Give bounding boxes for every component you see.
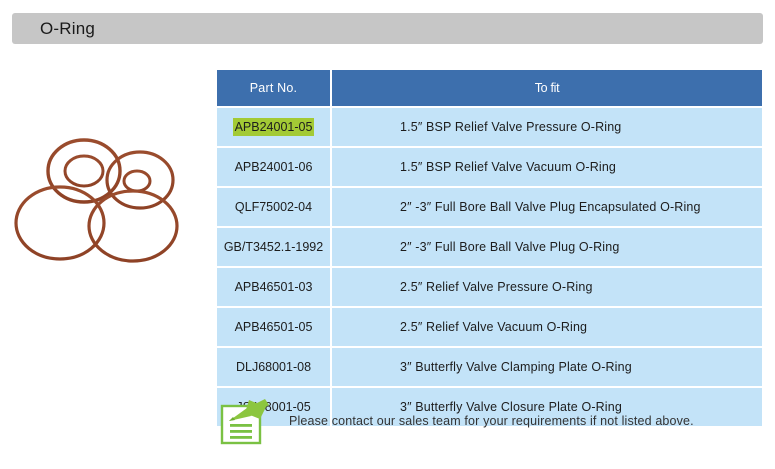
cell-part-no: QLF75002-04 xyxy=(217,188,332,226)
table-row: APB24001-051.5″ BSP Relief Valve Pressur… xyxy=(217,108,762,146)
o-ring-lower-left xyxy=(16,187,104,259)
pen-writing-on-document-icon xyxy=(219,396,275,446)
cell-part-no: DLJ68001-08 xyxy=(217,348,332,386)
cell-part-no: APB24001-05 xyxy=(217,108,332,146)
table-row: APB46501-032.5″ Relief Valve Pressure O-… xyxy=(217,268,762,306)
cell-to-fit: 1.5″ BSP Relief Valve Vacuum O-Ring xyxy=(332,148,762,186)
cell-part-no: APB46501-05 xyxy=(217,308,332,346)
cell-to-fit: 2.5″ Relief Valve Vacuum O-Ring xyxy=(332,308,762,346)
table-row: GB/T3452.1-19922″ -3″ Full Bore Ball Val… xyxy=(217,228,762,266)
table-header: Part No. To fit xyxy=(217,70,762,106)
product-image-o-rings xyxy=(0,128,215,273)
page-title-bar: O-Ring xyxy=(12,13,763,44)
column-header-to-fit-label: To fit xyxy=(535,81,560,95)
table-row: QLF75002-042″ -3″ Full Bore Ball Valve P… xyxy=(217,188,762,226)
table-row: APB24001-061.5″ BSP Relief Valve Vacuum … xyxy=(217,148,762,186)
table-header-row: Part No. To fit xyxy=(217,70,762,106)
cell-to-fit: 2.5″ Relief Valve Pressure O-Ring xyxy=(332,268,762,306)
cell-to-fit: 2″ -3″ Full Bore Ball Valve Plug Encapsu… xyxy=(332,188,762,226)
cell-to-fit: 2″ -3″ Full Bore Ball Valve Plug O-Ring xyxy=(332,228,762,266)
table-body: APB24001-051.5″ BSP Relief Valve Pressur… xyxy=(217,108,762,426)
cell-to-fit: 1.5″ BSP Relief Valve Pressure O-Ring xyxy=(332,108,762,146)
contact-note-text: Please contact our sales team for your r… xyxy=(289,414,694,428)
o-ring-lower-right xyxy=(89,191,177,261)
cell-part-no: GB/T3452.1-1992 xyxy=(217,228,332,266)
page-title: O-Ring xyxy=(40,19,95,39)
o-ring-illustration xyxy=(0,128,215,273)
highlighted-part-no: APB24001-05 xyxy=(233,118,315,136)
parts-table: Part No. To fit APB24001-051.5″ BSP Reli… xyxy=(217,68,762,428)
cell-part-no: APB46501-03 xyxy=(217,268,332,306)
table-row: APB46501-052.5″ Relief Valve Vacuum O-Ri… xyxy=(217,308,762,346)
column-header-to-fit: To fit xyxy=(332,70,762,106)
parts-table-container: Part No. To fit APB24001-051.5″ BSP Reli… xyxy=(217,68,762,428)
contact-note: Please contact our sales team for your r… xyxy=(219,396,694,446)
cell-to-fit: 3″ Butterfly Valve Clamping Plate O-Ring xyxy=(332,348,762,386)
cell-part-no: APB24001-06 xyxy=(217,148,332,186)
table-row: DLJ68001-083″ Butterfly Valve Clamping P… xyxy=(217,348,762,386)
column-header-part-no: Part No. xyxy=(217,70,332,106)
